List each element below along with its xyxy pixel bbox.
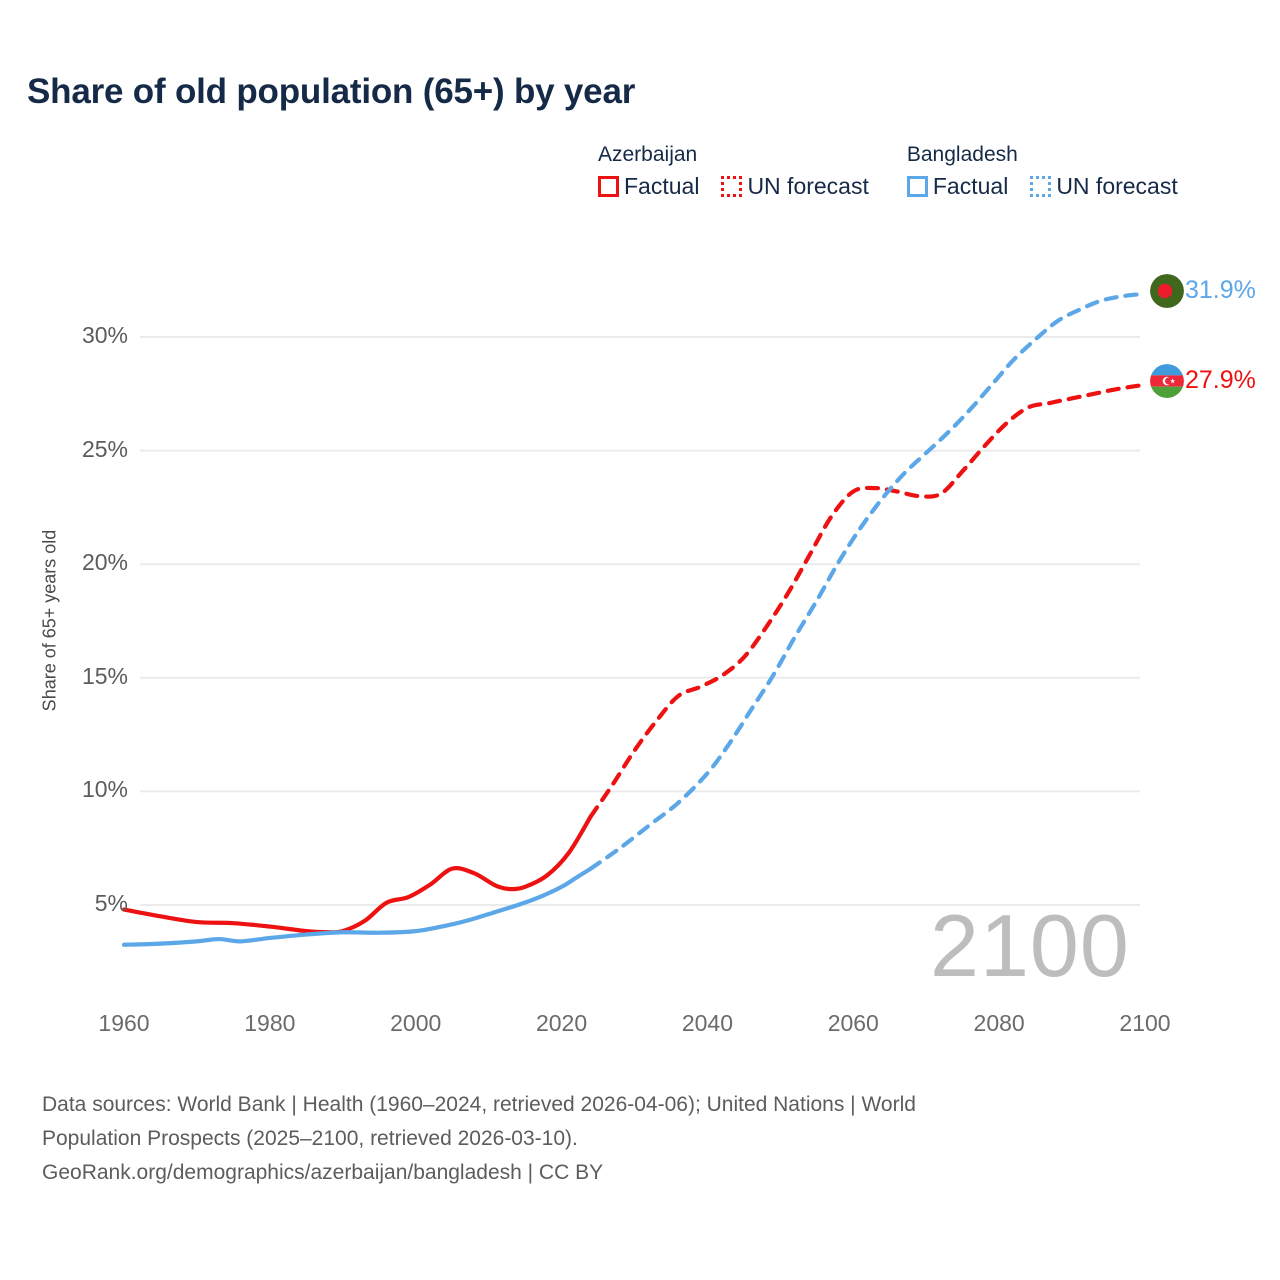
x-tick-label: 2060: [808, 1010, 898, 1037]
chart-page: Share of old population (65+) by year Az…: [0, 0, 1280, 1280]
plot-area: 2100 5%10%15%20%25%30% 19601980200020202…: [0, 0, 1280, 1060]
y-tick-label: 5%: [58, 890, 128, 917]
end-label-bangladesh: 31.9%: [1185, 276, 1256, 305]
footer-line-2: Population Prospects (2025–2100, retriev…: [42, 1122, 1162, 1156]
y-tick-label: 10%: [58, 776, 128, 803]
x-tick-label: 2000: [371, 1010, 461, 1037]
line-forecast-azerbaijan: [591, 385, 1145, 817]
line-factual-azerbaijan: [124, 816, 591, 932]
line-forecast-bangladesh: [591, 294, 1145, 869]
footer-line-3[interactable]: GeoRank.org/demographics/azerbaijan/bang…: [42, 1156, 1162, 1190]
y-tick-label: 30%: [58, 322, 128, 349]
chart-canvas: [0, 0, 1280, 1060]
x-tick-label: 2100: [1100, 1010, 1190, 1037]
series-lines: [124, 294, 1145, 945]
y-axis-title: Share of 65+ years old: [40, 511, 61, 731]
x-tick-label: 1980: [225, 1010, 315, 1037]
x-tick-label: 2080: [954, 1010, 1044, 1037]
line-factual-bangladesh: [124, 869, 591, 945]
end-label-azerbaijan: 27.9%: [1185, 366, 1256, 395]
y-tick-label: 20%: [58, 549, 128, 576]
x-tick-label: 2040: [662, 1010, 752, 1037]
flag-bangladesh-icon: [1150, 274, 1184, 308]
footer-sources: Data sources: World Bank | Health (1960–…: [42, 1088, 1162, 1190]
x-tick-label: 1960: [79, 1010, 169, 1037]
x-tick-label: 2020: [517, 1010, 607, 1037]
footer-line-1: Data sources: World Bank | Health (1960–…: [42, 1088, 1162, 1122]
gridlines: [140, 337, 1140, 905]
y-tick-label: 15%: [58, 663, 128, 690]
y-tick-label: 25%: [58, 436, 128, 463]
flag-azerbaijan-icon: [1150, 364, 1184, 398]
